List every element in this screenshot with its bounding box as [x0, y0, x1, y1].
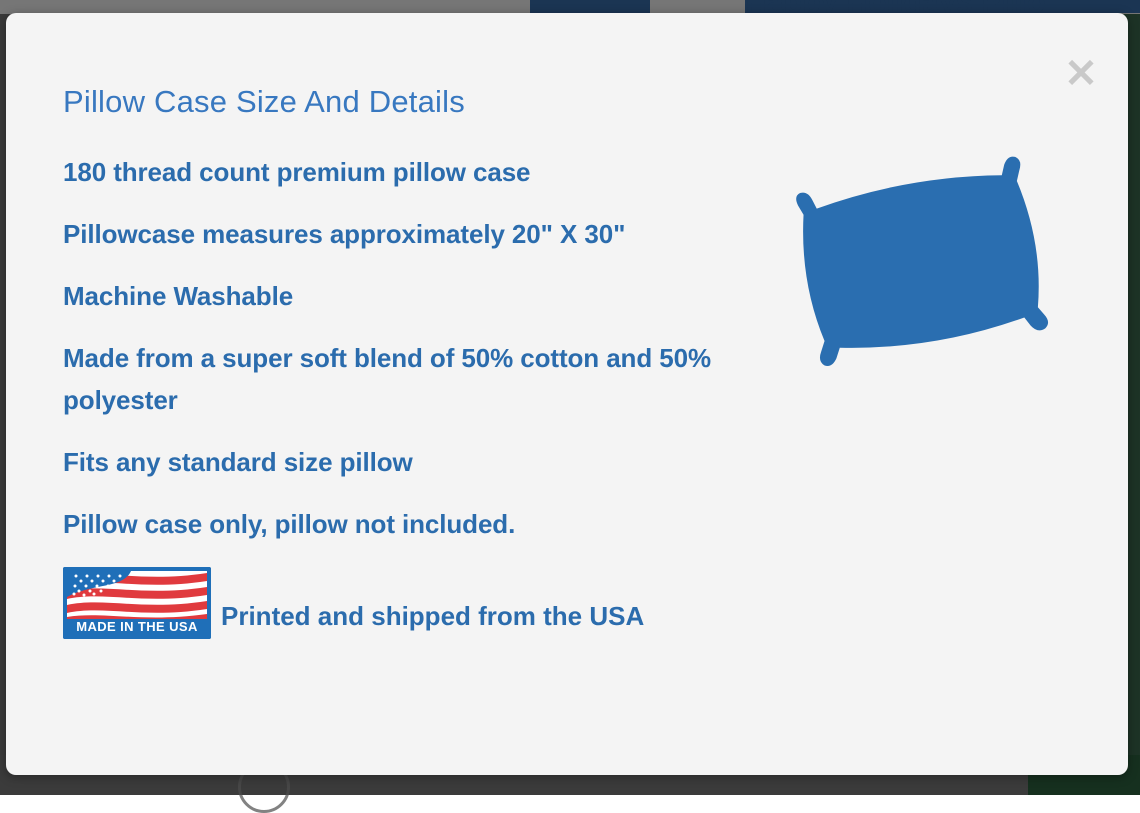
made-in-usa-text: Printed and shipped from the USA — [221, 601, 644, 631]
detail-item: Fits any standard size pillow — [63, 441, 723, 483]
details-list: 180 thread count premium pillow case Pil… — [63, 151, 723, 639]
backdrop-navy-block-left — [530, 0, 650, 13]
made-in-usa-line: MADE IN THE USA Printed and shipped from… — [63, 567, 723, 639]
detail-item: Machine Washable — [63, 275, 723, 317]
detail-item: Pillowcase measures approximately 20" X … — [63, 213, 723, 255]
pillow-details-modal: ✕ Pillow Case Size And Details 180 threa… — [6, 13, 1128, 775]
close-icon[interactable]: ✕ — [1061, 54, 1101, 94]
detail-item: 180 thread count premium pillow case — [63, 151, 723, 193]
pillow-illustration — [761, 141, 1081, 391]
made-in-usa-flag-icon: MADE IN THE USA — [63, 567, 211, 639]
page-title: Pillow Case Size And Details — [63, 84, 465, 120]
detail-item: Pillow case only, pillow not included. — [63, 503, 723, 545]
detail-item: Made from a super soft blend of 50% cott… — [63, 337, 723, 421]
svg-text:MADE IN THE USA: MADE IN THE USA — [76, 619, 198, 634]
